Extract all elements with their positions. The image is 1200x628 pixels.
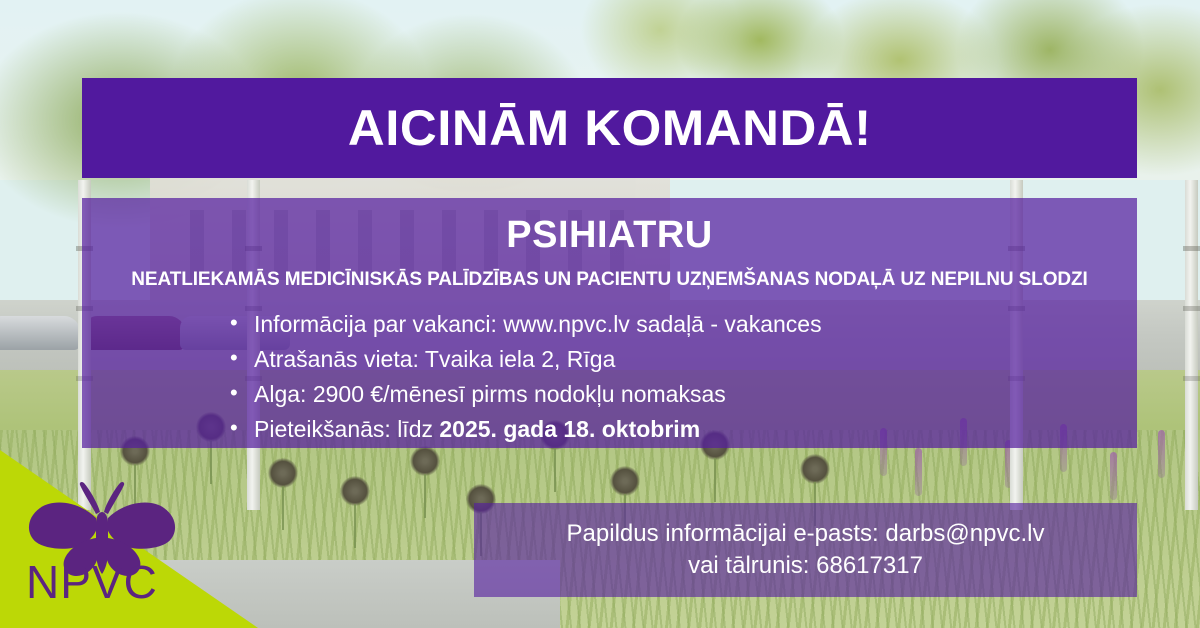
role-subtitle: NEATLIEKAMĀS MEDICĪNISKĀS PALĪDZĪBAS UN … [82, 269, 1137, 291]
allium-flower [610, 466, 640, 496]
allium-flower [340, 476, 370, 506]
list-item: Pieteikšanās: līdz 2025. gada 18. oktobr… [230, 412, 1137, 447]
list-item: Informācija par vakanci: www.npvc.lv sad… [230, 307, 1137, 342]
salvia-spike [1110, 452, 1117, 500]
headline-banner: AICINĀM KOMANDĀ! [82, 78, 1137, 178]
contact-email-line: Papildus informācijai e-pasts: darbs@npv… [567, 518, 1045, 550]
allium-flower [268, 458, 298, 488]
vacancy-bullet-list: Informācija par vakanci: www.npvc.lv sad… [230, 307, 1137, 447]
salvia-spike [1158, 430, 1165, 478]
job-advertisement-poster: AICINĀM KOMANDĀ! PSIHIATRU NEATLIEKAMĀS … [0, 0, 1200, 628]
logo-wordmark: NPVC [26, 555, 158, 609]
allium-flower [410, 446, 440, 476]
list-item: Atrašanās vieta: Tvaika iela 2, Rīga [230, 342, 1137, 377]
bullet-text: Atrašanās vieta: Tvaika iela 2, Rīga [254, 346, 615, 372]
contact-panel: Papildus informācijai e-pasts: darbs@npv… [474, 503, 1137, 597]
application-deadline: 2025. gada 18. oktobrim [439, 416, 700, 442]
vacancy-details-panel: PSIHIATRU NEATLIEKAMĀS MEDICĪNISKĀS PALĪ… [82, 198, 1137, 448]
salvia-spike [915, 448, 922, 496]
bullet-text: Alga: 2900 €/mēnesī pirms nodokļu nomaks… [254, 381, 726, 407]
contact-phone-line: vai tālrunis: 68617317 [688, 550, 923, 582]
allium-flower [800, 454, 830, 484]
headline-text: AICINĀM KOMANDĀ! [348, 99, 872, 157]
list-item: Alga: 2900 €/mēnesī pirms nodokļu nomaks… [230, 377, 1137, 412]
car [0, 316, 80, 350]
role-title: PSIHIATRU [82, 214, 1137, 257]
bullet-text-prefix: Pieteikšanās: līdz [254, 416, 439, 442]
bullet-text: Informācija par vakanci: www.npvc.lv sad… [254, 311, 822, 337]
birch-tree [1185, 180, 1198, 510]
